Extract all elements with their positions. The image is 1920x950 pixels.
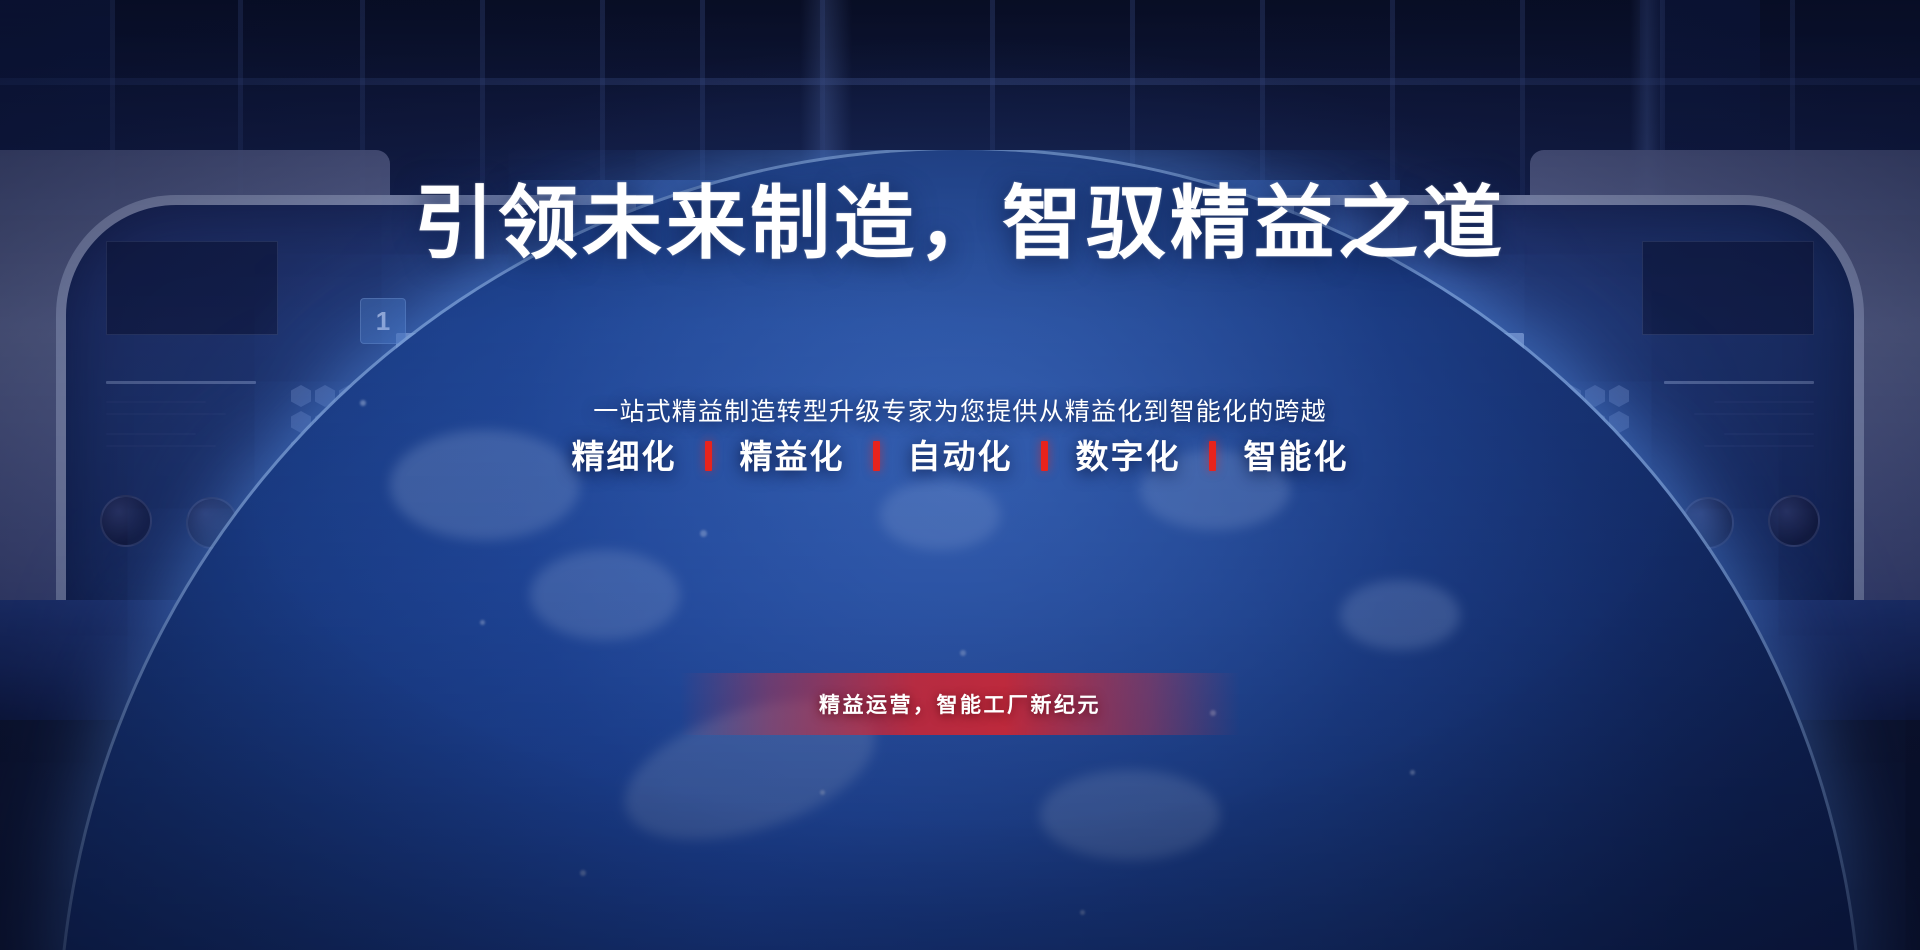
banner-headline: 引领未来制造，智驭精益之道	[0, 182, 1920, 266]
keyword-separator-icon	[705, 441, 712, 471]
keyword-item-4: 智能化	[1242, 430, 1351, 478]
keyword-item-2: 自动化	[906, 430, 1015, 478]
keyword-separator-icon	[1209, 441, 1216, 471]
banner-subheadline: 一站式精益制造转型升级专家为您提供从精益化到智能化的跨越	[0, 392, 1920, 428]
hero-banner: 技能道场 SKILL DOJO 质量反省 QUALITY REFLECTION …	[0, 0, 1920, 950]
keyword-item-3: 数字化	[1074, 430, 1183, 478]
keyword-item-0: 精细化	[570, 430, 679, 478]
tagline-badge: 精益运营，智能工厂新纪元	[680, 673, 1240, 735]
banner-content: 引领未来制造，智驭精益之道 一站式精益制造转型升级专家为您提供从精益化到智能化的…	[0, 0, 1920, 950]
keyword-separator-icon	[873, 441, 880, 471]
keyword-list: 精细化 精益化 自动化 数字化 智能化	[0, 430, 1920, 478]
keyword-item-1: 精益化	[738, 430, 847, 478]
keyword-separator-icon	[1041, 441, 1048, 471]
tagline-badge-text: 精益运营，智能工厂新纪元	[819, 689, 1101, 719]
